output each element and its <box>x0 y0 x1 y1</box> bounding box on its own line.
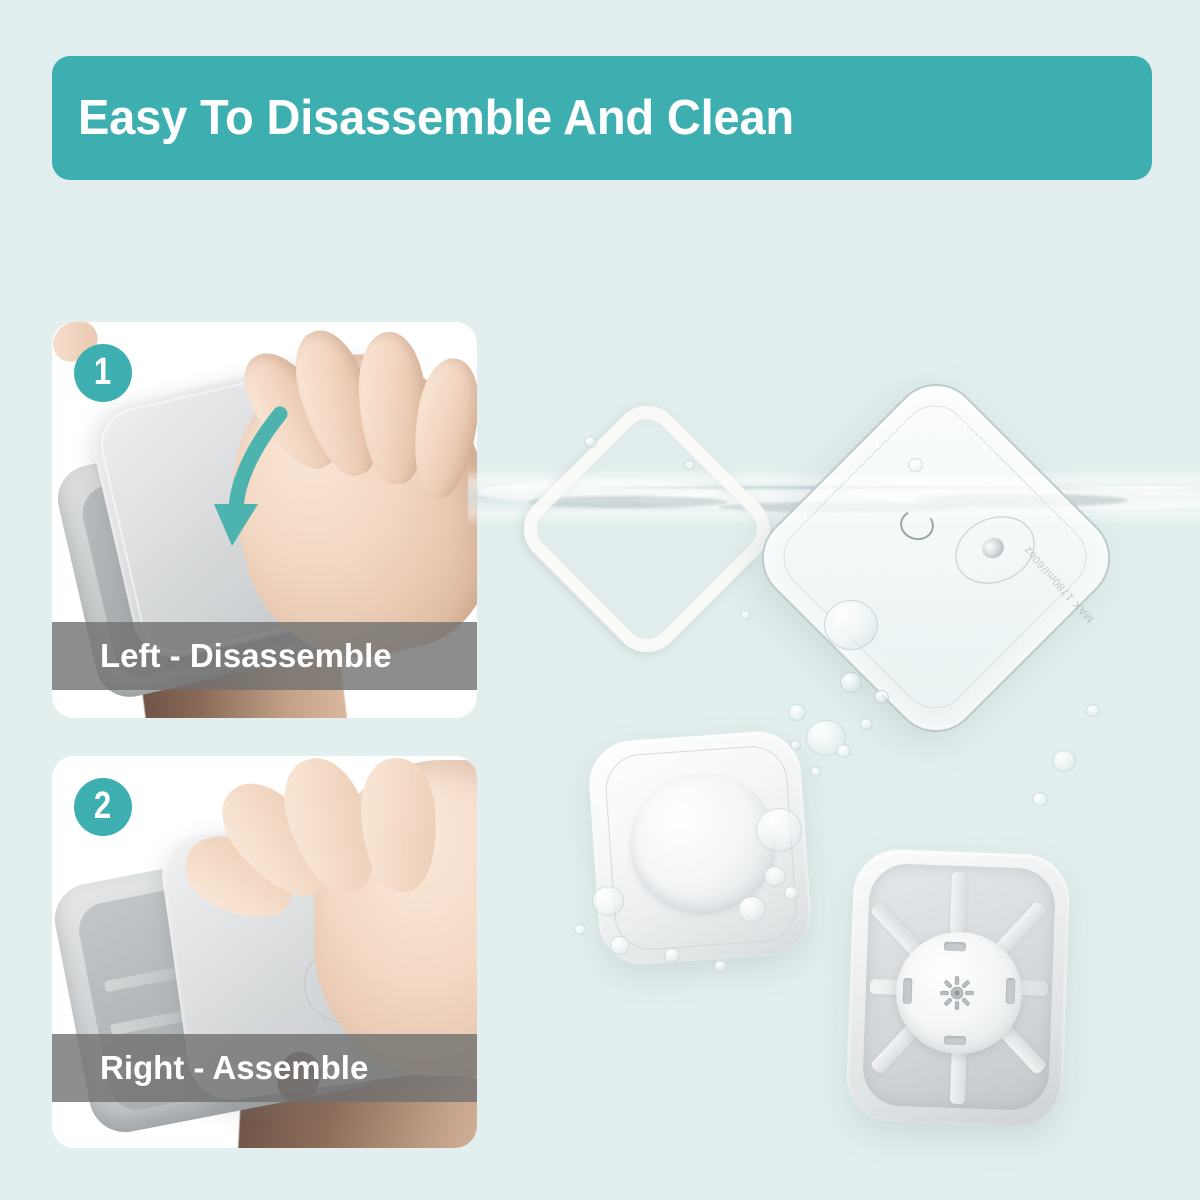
product-water-scene: MAX 1780ml/60oz <box>488 300 1200 1200</box>
step-2-caption-bar: Right - Assemble <box>52 1034 477 1102</box>
water-bubble <box>1052 750 1076 772</box>
water-bubble <box>740 610 751 620</box>
step-number-2: 2 <box>94 787 111 825</box>
step-card-1: 1 Left - Disassemble <box>52 322 477 718</box>
hub-slot <box>903 978 913 1004</box>
rotate-left-arrow-icon <box>202 400 332 550</box>
water-droplet <box>756 808 802 852</box>
page-title: Easy To Disassemble And Clean <box>78 90 794 146</box>
water-bubble <box>788 704 806 721</box>
water-bubble <box>1032 792 1048 807</box>
step-number-badge-2: 2 <box>74 778 132 836</box>
water-bubble <box>908 458 923 472</box>
water-droplet <box>874 690 889 704</box>
hub-slot <box>944 942 966 952</box>
lid-rib <box>950 872 967 934</box>
silicone-gasket-ring <box>510 392 784 666</box>
water-droplet <box>738 896 766 922</box>
water-droplet <box>784 886 799 900</box>
water-droplet <box>840 672 862 693</box>
water-bubble <box>684 460 695 470</box>
step-card-2: 2 Right - Assemble <box>52 756 477 1148</box>
water-bubble <box>790 740 801 750</box>
infographic-stage: Easy To Disassemble And Clean 1 <box>0 0 1200 1200</box>
hub-slot <box>1006 978 1016 1004</box>
water-droplet <box>574 924 586 935</box>
step-2-caption-text: Right - Assemble <box>100 1049 368 1087</box>
water-droplet <box>714 960 727 972</box>
step-1-caption-text: Left - Disassemble <box>100 637 392 675</box>
gear-valve-icon <box>940 976 974 1010</box>
water-bubble <box>836 744 851 758</box>
water-bubble <box>860 718 873 730</box>
water-droplet <box>592 886 624 916</box>
step-number-badge-1: 1 <box>74 344 132 402</box>
water-bubble <box>584 436 597 448</box>
water-droplet <box>764 866 786 887</box>
water-droplet <box>610 936 630 955</box>
water-droplet <box>824 600 878 650</box>
water-bubble <box>1086 704 1100 717</box>
step-1-caption-bar: Left - Disassemble <box>52 622 477 690</box>
water-bubble <box>810 766 822 777</box>
water-droplet <box>664 948 680 963</box>
header-banner: Easy To Disassemble And Clean <box>52 56 1152 180</box>
step-number-1: 1 <box>94 353 111 391</box>
hub-slot <box>944 1036 966 1046</box>
